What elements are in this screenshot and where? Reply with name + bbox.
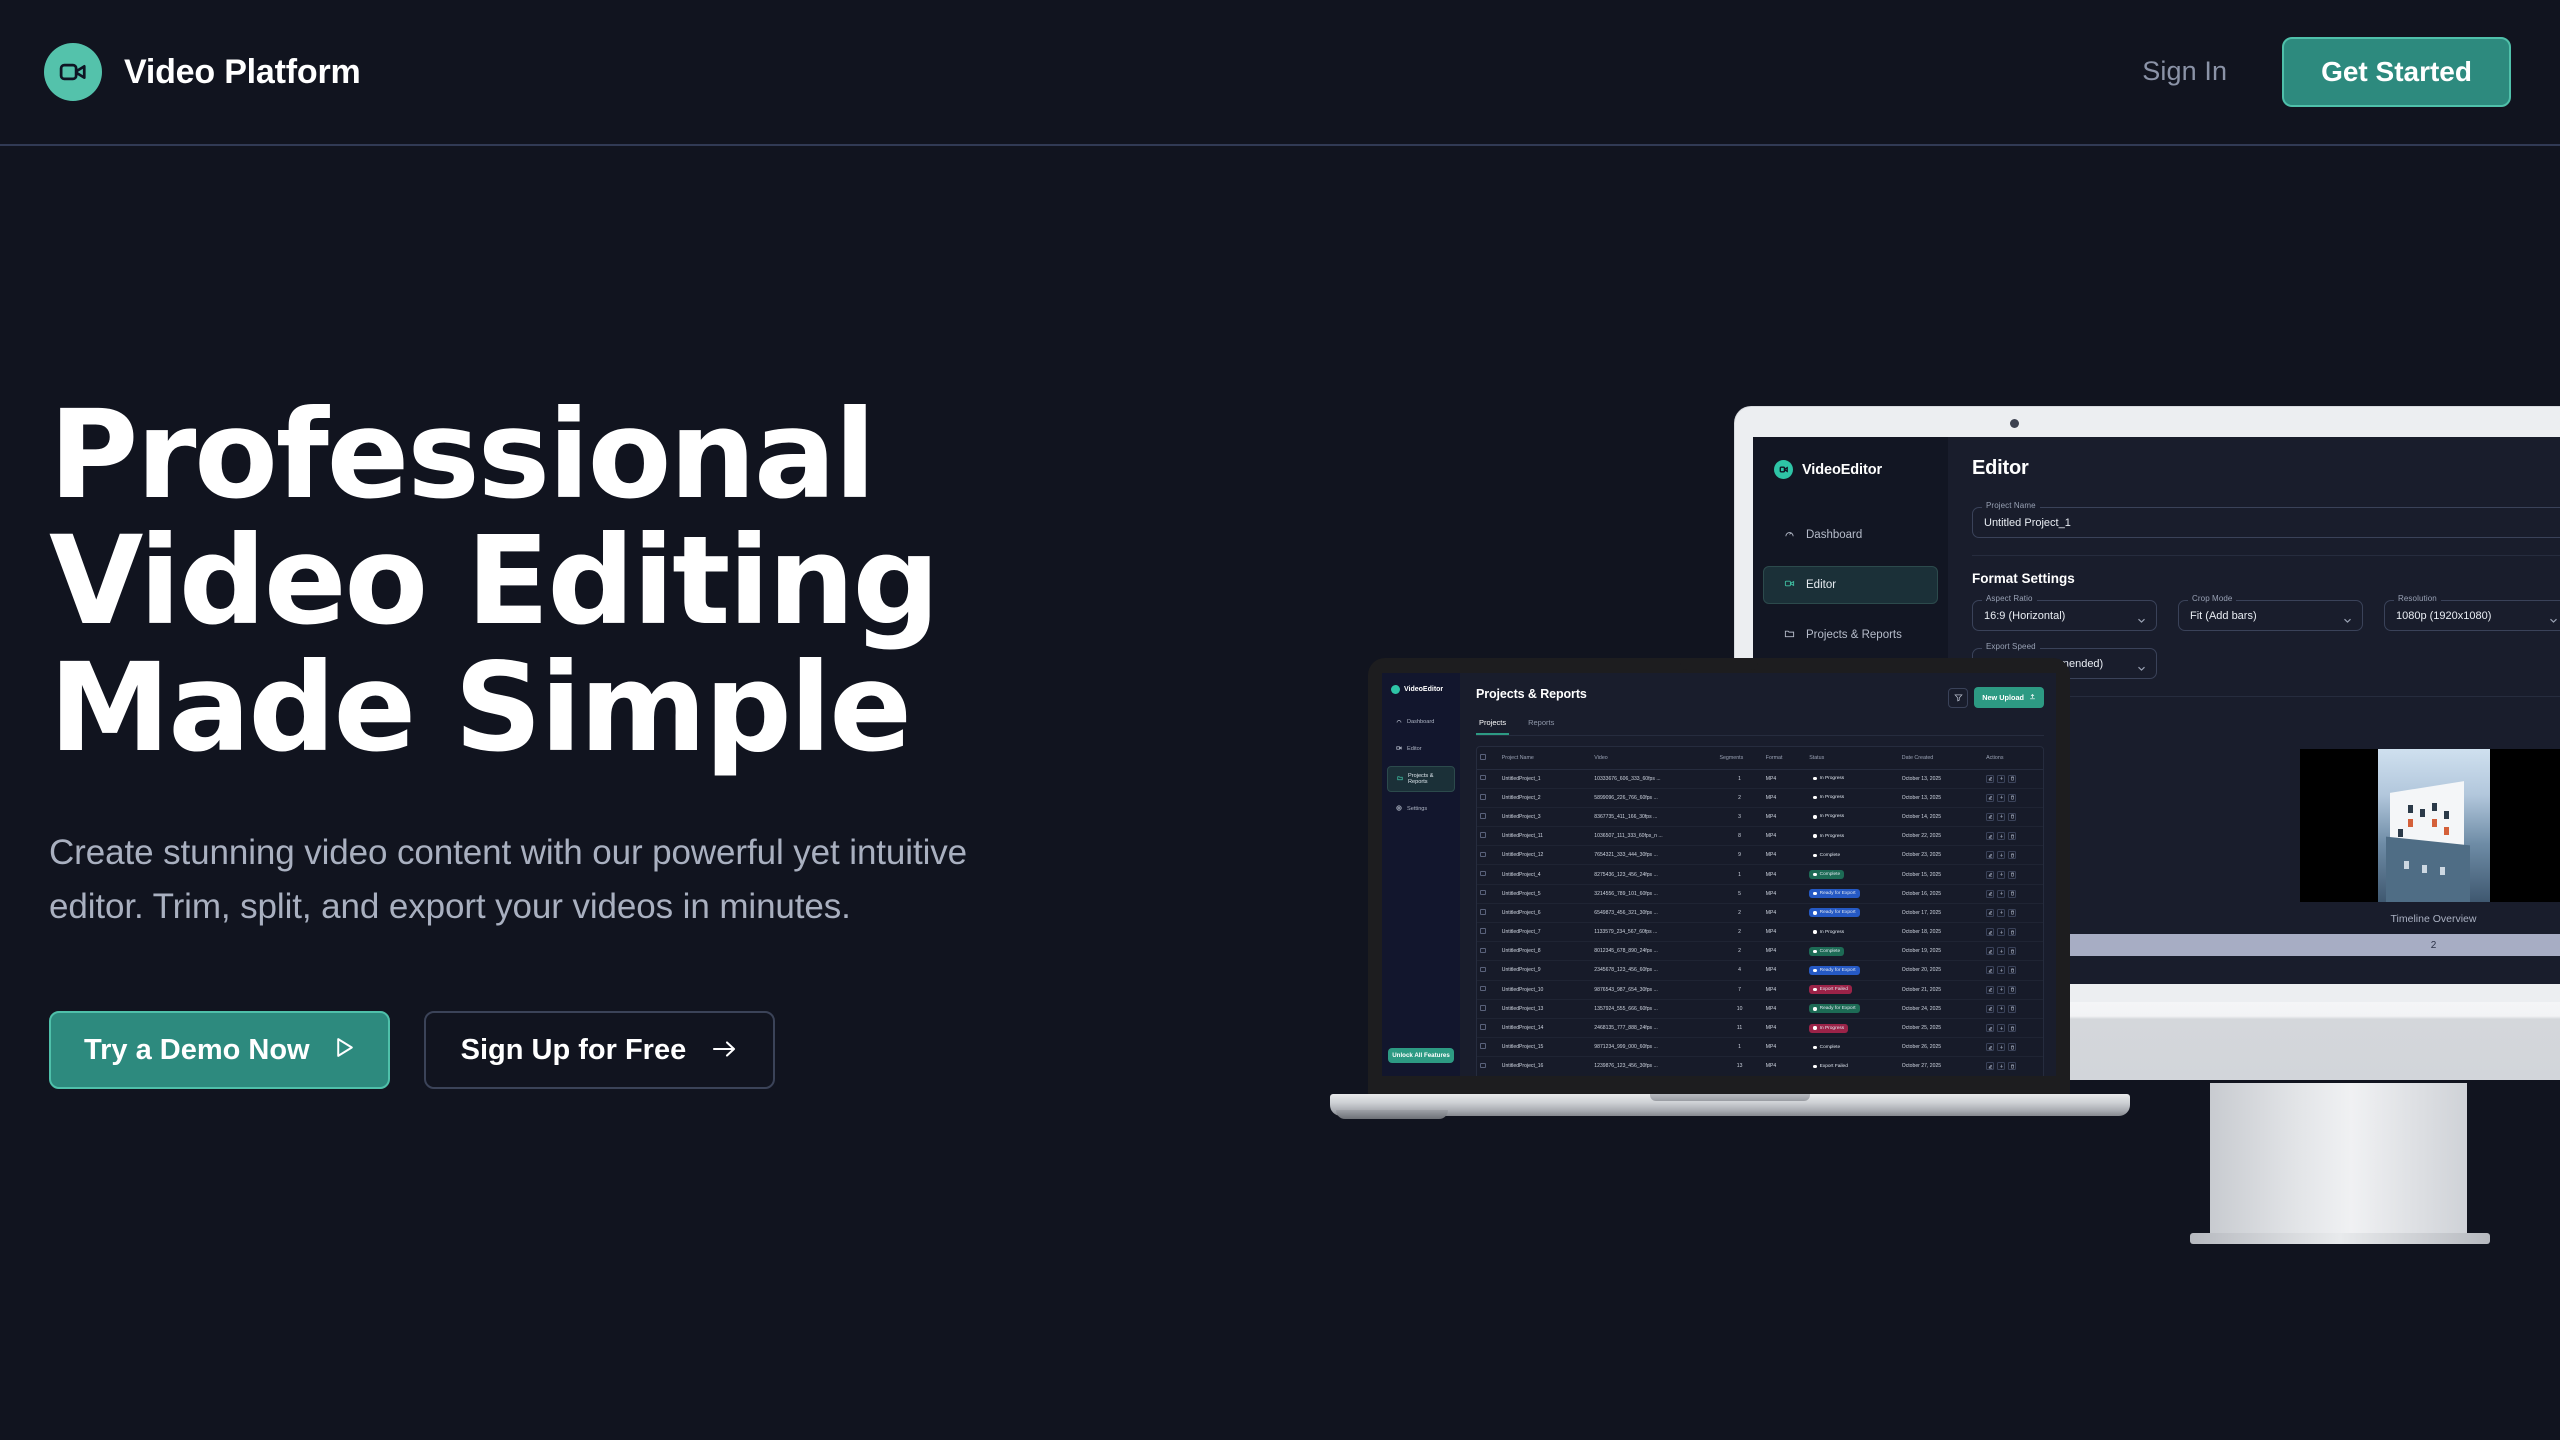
trash-icon[interactable] — [2008, 909, 2016, 917]
projects-table: Project Name Video Segments Format Statu… — [1477, 747, 2043, 1076]
cell-status: In Progress — [1806, 788, 1899, 807]
row-checkbox[interactable] — [1477, 923, 1499, 942]
edit-icon[interactable] — [1986, 851, 1994, 859]
cell-actions — [1983, 827, 2043, 846]
edit-icon[interactable] — [1986, 928, 1994, 936]
cell-video: 10333676_606_333_60fps ... — [1591, 769, 1716, 788]
cell-date: October 21, 2025 — [1899, 980, 1983, 999]
sidebar-item-projects-reports[interactable]: Projects & Reports — [1387, 766, 1455, 792]
laptop-mockup: VideoEditor Dashboard Editor — [1330, 658, 2130, 1138]
editor-logo-name: VideoEditor — [1802, 462, 1882, 478]
projects-app: VideoEditor Dashboard Editor — [1382, 673, 2056, 1076]
row-checkbox[interactable] — [1477, 769, 1499, 788]
cell-date: October 20, 2025 — [1899, 961, 1983, 980]
status-badge: Complete — [1809, 870, 1844, 879]
header-actions: Sign In Get Started — [2142, 37, 2511, 106]
trash-icon[interactable] — [2008, 1024, 2016, 1032]
download-icon[interactable] — [1997, 851, 2005, 859]
cell-date: October 22, 2025 — [1899, 827, 1983, 846]
tab-projects[interactable]: Projects — [1476, 718, 1509, 735]
divider — [1972, 555, 2560, 556]
cell-segments: 2 — [1716, 923, 1762, 942]
cell-project-name: UntitledProject_7 — [1499, 923, 1592, 942]
cell-actions — [1983, 807, 2043, 826]
table-row[interactable]: UntitledProject_71133579_234_567_60fps .… — [1477, 923, 2043, 942]
download-icon[interactable] — [1997, 871, 2005, 879]
table-row[interactable]: UntitledProject_110333676_606_333_60fps … — [1477, 769, 2043, 788]
cell-date: October 26, 2025 — [1899, 1038, 1983, 1057]
cell-actions — [1983, 980, 2043, 999]
crop-mode-value: Fit (Add bars) — [2190, 610, 2257, 622]
cell-segments: 1 — [1716, 769, 1762, 788]
edit-icon[interactable] — [1986, 1062, 1994, 1070]
cell-format: MP4 — [1763, 980, 1807, 999]
row-checkbox[interactable] — [1477, 1057, 1499, 1076]
table-header-row: Project Name Video Segments Format Statu… — [1477, 747, 2043, 769]
table-row[interactable]: UntitledProject_66549873_456_321_30fps .… — [1477, 903, 2043, 922]
edit-icon[interactable] — [1986, 909, 1994, 917]
hero-title-line-3: Made Simple — [49, 645, 1169, 771]
cell-actions — [1983, 1038, 2043, 1057]
sidebar-item-settings[interactable]: Settings — [1387, 799, 1455, 819]
download-icon[interactable] — [1997, 966, 2005, 974]
row-checkbox[interactable] — [1477, 999, 1499, 1018]
resolution-select[interactable]: Resolution 1080p (1920x1080) — [2384, 600, 2560, 631]
cell-actions — [1983, 923, 2043, 942]
cell-actions — [1983, 942, 2043, 961]
row-checkbox[interactable] — [1477, 1018, 1499, 1037]
crop-mode-label: Crop Mode — [2188, 594, 2236, 603]
format-settings-row-1: Aspect Ratio 16:9 (Horizontal) Crop Mode… — [1972, 600, 2560, 631]
status-badge: In Progress — [1809, 793, 1848, 802]
table-row[interactable]: UntitledProject_88012345_678_890_24fps .… — [1477, 942, 2043, 961]
cell-project-name: UntitledProject_1 — [1499, 769, 1592, 788]
row-checkbox[interactable] — [1477, 1038, 1499, 1057]
row-checkbox[interactable] — [1477, 846, 1499, 865]
edit-icon[interactable] — [1986, 966, 1994, 974]
export-speed-label: Export Speed — [1982, 642, 2040, 651]
cell-actions — [1983, 961, 2043, 980]
edit-icon[interactable] — [1986, 794, 1994, 802]
sidebar-item-projects-reports[interactable]: Projects & Reports — [1763, 617, 1938, 653]
cell-format: MP4 — [1763, 961, 1807, 980]
chevron-down-icon — [2137, 612, 2146, 630]
cell-status: Ready for Export — [1806, 884, 1899, 903]
cell-segments: 10 — [1716, 999, 1762, 1018]
sidebar-label-projects-reports: Projects & Reports — [1806, 629, 1902, 641]
cell-format: MP4 — [1763, 903, 1807, 922]
folder-icon — [1397, 775, 1403, 783]
cell-video: 3214556_789_101_60fps ... — [1591, 884, 1716, 903]
status-badge: Complete — [1809, 1043, 1844, 1052]
projects-page-title: Projects & Reports — [1476, 687, 1587, 701]
video-icon — [1391, 685, 1400, 694]
building-shape — [2386, 837, 2470, 902]
page-title: Professional Video Editing Made Simple — [49, 392, 1169, 771]
cell-date: October 16, 2025 — [1899, 884, 1983, 903]
trash-icon[interactable] — [2008, 928, 2016, 936]
laptop-foot — [1336, 1110, 1448, 1119]
video-icon — [1396, 745, 1402, 753]
download-icon[interactable] — [1997, 909, 2005, 917]
cell-video: 1036507_111_333_60fps_n ... — [1591, 827, 1716, 846]
cell-segments: 8 — [1716, 827, 1762, 846]
row-checkbox[interactable] — [1477, 942, 1499, 961]
crop-mode-select[interactable]: Crop Mode Fit (Add bars) — [2178, 600, 2363, 631]
cell-status: Complete — [1806, 1038, 1899, 1057]
video-icon — [1784, 578, 1795, 592]
cell-date: October 14, 2025 — [1899, 807, 1983, 826]
cell-date: October 24, 2025 — [1899, 999, 1983, 1018]
trash-icon[interactable] — [2008, 890, 2016, 898]
cell-project-name: UntitledProject_12 — [1499, 846, 1592, 865]
cell-project-name: UntitledProject_5 — [1499, 884, 1592, 903]
project-name-field[interactable]: Project Name Untitled Project_1 — [1972, 507, 2560, 538]
cell-status: In Progress — [1806, 1018, 1899, 1037]
device-mockups: VideoEditor Dashboard Editor Projec — [1330, 380, 2560, 1230]
row-checkbox[interactable] — [1477, 865, 1499, 884]
cell-project-name: UntitledProject_4 — [1499, 865, 1592, 884]
sign-up-free-button[interactable]: Sign Up for Free — [424, 1011, 776, 1089]
try-demo-button[interactable]: Try a Demo Now — [49, 1011, 390, 1089]
th-actions: Actions — [1983, 747, 2043, 769]
edit-icon[interactable] — [1986, 986, 1994, 994]
cell-actions — [1983, 769, 2043, 788]
cell-segments: 2 — [1716, 903, 1762, 922]
table-row[interactable]: UntitledProject_38367735_411_166_30fps .… — [1477, 807, 2043, 826]
hero-title-line-2: Video Editing — [49, 518, 1169, 644]
row-checkbox[interactable] — [1477, 903, 1499, 922]
cell-format: MP4 — [1763, 865, 1807, 884]
sidebar-label-editor: Editor — [1407, 746, 1422, 752]
cell-segments: 13 — [1716, 1057, 1762, 1076]
download-icon[interactable] — [1997, 813, 2005, 821]
table-row[interactable]: UntitledProject_92345678_123_456_60fps .… — [1477, 961, 2043, 980]
hero-subtitle-line-1: Create stunning video content with our p… — [49, 826, 1124, 880]
trash-icon[interactable] — [2008, 1043, 2016, 1051]
aspect-ratio-label: Aspect Ratio — [1982, 594, 2037, 603]
cell-format: MP4 — [1763, 788, 1807, 807]
timeline-value: 2 — [2431, 940, 2437, 951]
cell-status: In Progress — [1806, 807, 1899, 826]
video-camera-icon — [44, 43, 102, 101]
cell-project-name: UntitledProject_6 — [1499, 903, 1592, 922]
cell-video: 5899096_226_766_60fps ... — [1591, 788, 1716, 807]
table-row[interactable]: UntitledProject_111036507_111_333_60fps_… — [1477, 827, 2043, 846]
cell-project-name: UntitledProject_8 — [1499, 942, 1592, 961]
th-segments[interactable]: Segments — [1716, 747, 1762, 769]
hero-subtitle: Create stunning video content with our p… — [49, 826, 1124, 935]
aspect-ratio-value: 16:9 (Horizontal) — [1984, 610, 2065, 622]
sidebar-label-settings: Settings — [1407, 806, 1427, 812]
editor-logo: VideoEditor — [1753, 460, 1948, 479]
cell-date: October 13, 2025 — [1899, 788, 1983, 807]
gauge-icon — [1784, 528, 1795, 542]
trash-icon[interactable] — [2008, 947, 2016, 955]
hero-cta-group: Try a Demo Now Sign Up for Free — [49, 1011, 1169, 1089]
cell-actions — [1983, 903, 2043, 922]
cell-status: Complete — [1806, 942, 1899, 961]
cell-segments: 2 — [1716, 942, 1762, 961]
sidebar-item-dashboard[interactable]: Dashboard — [1763, 517, 1938, 553]
sidebar-label-dashboard: Dashboard — [1407, 719, 1434, 725]
video-player-preview[interactable] — [2300, 749, 2560, 902]
funnel-icon[interactable] — [1948, 688, 1968, 708]
download-icon[interactable] — [1997, 928, 2005, 936]
cell-segments: 9 — [1716, 846, 1762, 865]
cell-format: MP4 — [1763, 807, 1807, 826]
cell-segments: 7 — [1716, 980, 1762, 999]
projects-table-body: UntitledProject_110333676_606_333_60fps … — [1477, 769, 2043, 1076]
th-format[interactable]: Format — [1763, 747, 1807, 769]
status-badge: In Progress — [1809, 812, 1848, 821]
th-select-all[interactable] — [1477, 747, 1499, 769]
cell-status: Export Failed — [1806, 980, 1899, 999]
table-row[interactable]: UntitledProject_109876543_987_654_30fps … — [1477, 980, 2043, 999]
cell-project-name: UntitledProject_2 — [1499, 788, 1592, 807]
cell-segments: 1 — [1716, 865, 1762, 884]
th-project-name[interactable]: Project Name — [1499, 747, 1592, 769]
get-started-button[interactable]: Get Started — [2282, 37, 2511, 106]
trash-icon[interactable] — [2008, 813, 2016, 821]
table-row[interactable]: UntitledProject_25899096_226_766_60fps .… — [1477, 788, 2043, 807]
trash-icon[interactable] — [2008, 851, 2016, 859]
cell-status: In Progress — [1806, 827, 1899, 846]
format-settings-title: Format Settings — [1972, 571, 2560, 586]
th-date-created[interactable]: Date Created — [1899, 747, 1983, 769]
arrow-right-icon — [712, 1034, 738, 1067]
folder-icon — [1784, 628, 1795, 642]
resolution-value: 1080p (1920x1080) — [2396, 610, 2491, 622]
row-checkbox[interactable] — [1477, 980, 1499, 999]
trash-icon[interactable] — [2008, 775, 2016, 783]
edit-icon[interactable] — [1986, 813, 1994, 821]
table-row[interactable]: UntitledProject_161239876_123_456_30fps … — [1477, 1057, 2043, 1076]
status-badge: Ready for Export — [1809, 966, 1859, 975]
cell-segments: 5 — [1716, 884, 1762, 903]
new-upload-label: New Upload — [1982, 693, 2024, 702]
cell-date: October 25, 2025 — [1899, 1018, 1983, 1037]
upload-icon — [2029, 693, 2036, 702]
projects-header: Projects & Reports New Upload — [1476, 687, 2044, 708]
cell-video: 9871234_999_000_60fps ... — [1591, 1038, 1716, 1057]
table-row[interactable]: UntitledProject_53214556_789_101_60fps .… — [1477, 884, 2043, 903]
try-demo-label: Try a Demo Now — [84, 1034, 310, 1067]
status-badge: In Progress — [1809, 774, 1848, 783]
sidebar-label-dashboard: Dashboard — [1806, 529, 1862, 541]
status-badge: Ready for Export — [1809, 1004, 1859, 1013]
cell-actions — [1983, 788, 2043, 807]
sidebar-item-editor[interactable]: Editor — [1387, 739, 1455, 759]
cell-date: October 23, 2025 — [1899, 846, 1983, 865]
laptop-base-notch — [1650, 1094, 1810, 1101]
laptop-notch — [1680, 658, 1758, 670]
download-icon[interactable] — [1997, 1062, 2005, 1070]
aspect-ratio-select[interactable]: Aspect Ratio 16:9 (Horizontal) — [1972, 600, 2157, 631]
status-badge: Export Failed — [1809, 1062, 1852, 1071]
cell-video: 8012345_678_890_24fps ... — [1591, 942, 1716, 961]
cell-date: October 19, 2025 — [1899, 942, 1983, 961]
cell-format: MP4 — [1763, 1018, 1807, 1037]
gauge-icon — [1396, 718, 1402, 726]
preview-thumbnail — [2378, 749, 2490, 902]
unlock-all-features-button[interactable]: Unlock All Features — [1388, 1048, 1454, 1063]
cell-format: MP4 — [1763, 923, 1807, 942]
status-badge: In Progress — [1809, 928, 1848, 937]
row-checkbox[interactable] — [1477, 827, 1499, 846]
cell-status: In Progress — [1806, 769, 1899, 788]
status-badge: Export Failed — [1809, 985, 1852, 994]
cell-status: Ready for Export — [1806, 961, 1899, 980]
edit-icon[interactable] — [1986, 1005, 1994, 1013]
webcam-icon — [2010, 419, 2019, 428]
download-icon[interactable] — [1997, 794, 2005, 802]
cell-format: MP4 — [1763, 827, 1807, 846]
chevron-down-icon — [2343, 612, 2352, 630]
edit-icon[interactable] — [1986, 1043, 1994, 1051]
download-icon[interactable] — [1997, 1043, 2005, 1051]
cell-video: 2468135_777_888_24fps ... — [1591, 1018, 1716, 1037]
cell-status: Ready for Export — [1806, 999, 1899, 1018]
new-upload-button[interactable]: New Upload — [1974, 687, 2044, 708]
cell-date: October 18, 2025 — [1899, 923, 1983, 942]
cell-format: MP4 — [1763, 999, 1807, 1018]
edit-icon[interactable] — [1986, 832, 1994, 840]
cell-segments: 11 — [1716, 1018, 1762, 1037]
cell-project-name: UntitledProject_9 — [1499, 961, 1592, 980]
checkbox-icon[interactable] — [1480, 754, 1486, 760]
status-badge: In Progress — [1809, 832, 1848, 841]
trash-icon[interactable] — [2008, 966, 2016, 974]
row-checkbox[interactable] — [1477, 807, 1499, 826]
cell-format: MP4 — [1763, 942, 1807, 961]
cell-project-name: UntitledProject_11 — [1499, 827, 1592, 846]
sidebar-item-dashboard[interactable]: Dashboard — [1387, 712, 1455, 732]
site-header: Video Platform Sign In Get Started — [0, 0, 2560, 146]
cell-status: Export Failed — [1806, 1057, 1899, 1076]
edit-icon[interactable] — [1986, 775, 1994, 783]
cell-segments: 1 — [1716, 1038, 1762, 1057]
brand-name: Video Platform — [124, 53, 361, 92]
editor-topbar: Editor Save Export — [1972, 457, 2560, 491]
trash-icon[interactable] — [2008, 986, 2016, 994]
download-icon[interactable] — [1997, 832, 2005, 840]
monitor-stand-foot — [2190, 1233, 2490, 1244]
project-name-value: Untitled Project_1 — [1984, 517, 2071, 529]
laptop-screen: VideoEditor Dashboard Editor — [1382, 673, 2056, 1076]
row-checkbox[interactable] — [1477, 961, 1499, 980]
cell-date: October 17, 2025 — [1899, 903, 1983, 922]
projects-logo-name: VideoEditor — [1404, 686, 1443, 693]
trash-icon[interactable] — [2008, 794, 2016, 802]
cell-actions — [1983, 999, 2043, 1018]
monitor-stand-neck — [2210, 1083, 2467, 1238]
edit-icon[interactable] — [1986, 871, 1994, 879]
cell-project-name: UntitledProject_10 — [1499, 980, 1592, 999]
table-row[interactable]: UntitledProject_159871234_999_000_60fps … — [1477, 1038, 2043, 1057]
cell-status: Complete — [1806, 846, 1899, 865]
letterbox-bar-left — [2300, 749, 2378, 902]
cell-format: MP4 — [1763, 1057, 1807, 1076]
projects-tabs: Projects Reports — [1476, 718, 2044, 736]
cell-status: In Progress — [1806, 923, 1899, 942]
cell-video: 2345678_123_456_60fps ... — [1591, 961, 1716, 980]
row-checkbox[interactable] — [1477, 788, 1499, 807]
gear-icon — [1396, 805, 1402, 813]
brand[interactable]: Video Platform — [44, 43, 361, 101]
trash-icon[interactable] — [2008, 871, 2016, 879]
project-name-label: Project Name — [1982, 501, 2040, 510]
download-icon[interactable] — [1997, 947, 2005, 955]
row-checkbox[interactable] — [1477, 884, 1499, 903]
cell-format: MP4 — [1763, 884, 1807, 903]
cell-status: Ready for Export — [1806, 903, 1899, 922]
cell-date: October 27, 2025 — [1899, 1057, 1983, 1076]
sign-up-label: Sign Up for Free — [461, 1034, 687, 1067]
table-row[interactable]: UntitledProject_131357924_555_666_60fps … — [1477, 999, 2043, 1018]
landing-page: Video Platform Sign In Get Started Profe… — [0, 0, 2560, 1440]
th-status[interactable]: Status — [1806, 747, 1899, 769]
table-row[interactable]: UntitledProject_48275436_123_456_24fps .… — [1477, 865, 2043, 884]
tab-reports[interactable]: Reports — [1525, 718, 1557, 735]
editor-page-title: Editor — [1972, 457, 2029, 480]
cell-video: 1357924_555_666_60fps ... — [1591, 999, 1716, 1018]
download-icon[interactable] — [1997, 890, 2005, 898]
th-video[interactable]: Video — [1591, 747, 1716, 769]
cell-actions — [1983, 846, 2043, 865]
cell-actions — [1983, 1057, 2043, 1076]
status-badge: Complete — [1809, 947, 1844, 956]
cell-video: 7654321_333_444_30fps ... — [1591, 846, 1716, 865]
projects-table-container: Project Name Video Segments Format Statu… — [1476, 746, 2044, 1076]
edit-icon[interactable] — [1986, 890, 1994, 898]
table-row[interactable]: UntitledProject_127654321_333_444_30fps … — [1477, 846, 2043, 865]
cell-actions — [1983, 884, 2043, 903]
cell-date: October 13, 2025 — [1899, 769, 1983, 788]
cell-video: 6549873_456_321_30fps ... — [1591, 903, 1716, 922]
download-icon[interactable] — [1997, 1024, 2005, 1032]
trash-icon[interactable] — [2008, 1062, 2016, 1070]
cell-date: October 15, 2025 — [1899, 865, 1983, 884]
cell-project-name: UntitledProject_13 — [1499, 999, 1592, 1018]
download-icon[interactable] — [1997, 1005, 2005, 1013]
download-icon[interactable] — [1997, 775, 2005, 783]
cell-actions — [1983, 1018, 2043, 1037]
sign-in-link[interactable]: Sign In — [2142, 56, 2227, 87]
sidebar-item-editor[interactable]: Editor — [1763, 566, 1938, 604]
cell-actions — [1983, 865, 2043, 884]
status-badge: Complete — [1809, 851, 1844, 860]
cell-status: Complete — [1806, 865, 1899, 884]
hero-content: Professional Video Editing Made Simple C… — [49, 392, 1169, 1089]
trash-icon[interactable] — [2008, 1005, 2016, 1013]
trash-icon[interactable] — [2008, 832, 2016, 840]
projects-logo: VideoEditor — [1382, 685, 1460, 694]
projects-main: Projects & Reports New Upload — [1460, 673, 2056, 1076]
cell-project-name: UntitledProject_16 — [1499, 1057, 1592, 1076]
cell-segments: 2 — [1716, 788, 1762, 807]
hero-title-line-1: Professional — [49, 392, 1169, 518]
resolution-label: Resolution — [2394, 594, 2441, 603]
play-triangle-icon — [334, 1034, 355, 1067]
letterbox-bar-right — [2490, 749, 2560, 902]
edit-icon[interactable] — [1986, 947, 1994, 955]
edit-icon[interactable] — [1986, 1024, 1994, 1032]
cell-project-name: UntitledProject_14 — [1499, 1018, 1592, 1037]
table-row[interactable]: UntitledProject_142468135_777_888_24fps … — [1477, 1018, 2043, 1037]
download-icon[interactable] — [1997, 986, 2005, 994]
cell-video: 1239876_123_456_30fps ... — [1591, 1057, 1716, 1076]
